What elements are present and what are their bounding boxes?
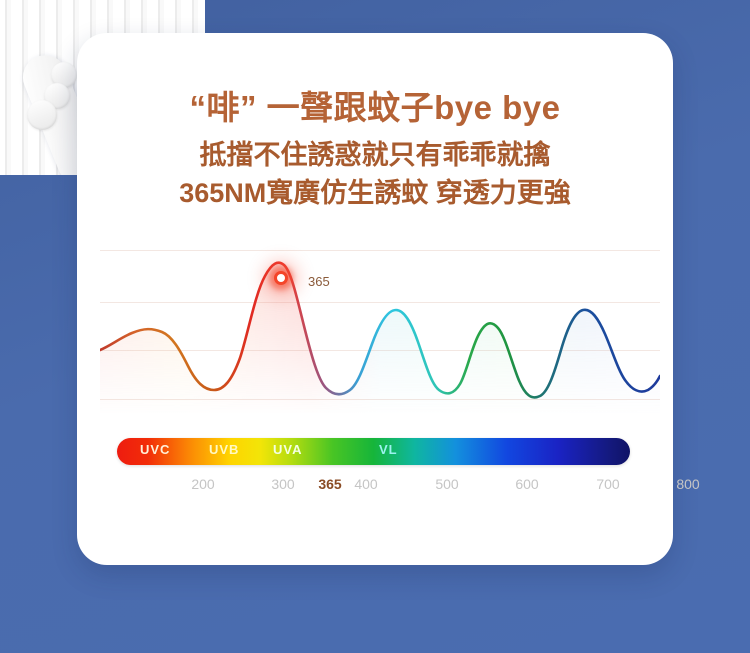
axis-tick-400: 400 (354, 476, 377, 492)
subtitle-line-1: 抵擋不住誘惑就只有乖乖就擒 (77, 136, 673, 174)
subtitle-block: 抵擋不住誘惑就只有乖乖就擒 365NM寬廣仿生誘蚊 穿透力更強 (77, 136, 673, 212)
spectrum-band-uva: UVA (273, 442, 302, 457)
peak-label-365: 365 (308, 274, 330, 289)
page-root: “啡” 一聲跟蚊子bye bye 抵擋不住誘惑就只有乖乖就擒 365NM寬廣仿生… (0, 0, 750, 653)
axis-tick-800: 800 (676, 476, 699, 492)
spectrum-band-uvc: UVC (140, 442, 170, 457)
spectrum-band-vl: VL (379, 442, 398, 457)
product-button-middle (40, 79, 74, 113)
axis-tick-365: 365 (318, 476, 341, 492)
page-title: “啡” 一聲跟蚊子bye bye (77, 81, 673, 129)
spectrum-chart-svg (100, 238, 660, 413)
spectrum-band-uvb: UVB (209, 442, 239, 457)
axis-tick-300: 300 (271, 476, 294, 492)
product-button-top (47, 58, 81, 92)
chart-area-fill (100, 263, 660, 413)
axis-tick-500: 500 (435, 476, 458, 492)
subtitle-line-2: 365NM寬廣仿生誘蚊 穿透力更強 (77, 174, 673, 212)
product-button-bottom (22, 95, 61, 134)
wavelength-axis: 200300365400500600700800 (77, 476, 673, 498)
axis-tick-600: 600 (515, 476, 538, 492)
content-card: “啡” 一聲跟蚊子bye bye 抵擋不住誘惑就只有乖乖就擒 365NM寬廣仿生… (77, 33, 673, 565)
axis-tick-200: 200 (191, 476, 214, 492)
axis-tick-700: 700 (596, 476, 619, 492)
spectrum-bar: UVC UVB UVA VL (117, 438, 630, 465)
spectrum-chart: 365 (100, 238, 660, 413)
peak-marker-365-icon (274, 271, 288, 285)
